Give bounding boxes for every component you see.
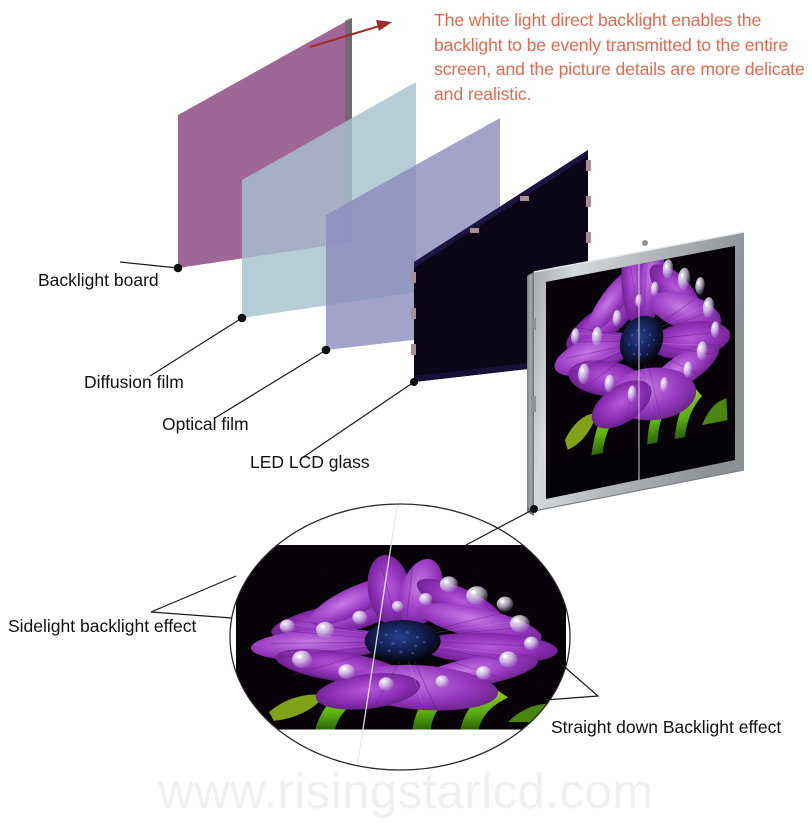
site-watermark: www.risingstarlcd.com	[0, 766, 812, 818]
label-led-lcd-glass: LED LCD glass	[250, 452, 370, 472]
figure-canvas: The white light direct backlight enables…	[0, 0, 812, 826]
leader-backlight-board	[120, 262, 178, 268]
leader-sidelight	[151, 576, 236, 618]
leader-led-lcd-glass	[302, 382, 414, 458]
label-sidelight-backlight-effect: Sidelight backlight effect	[8, 616, 196, 636]
label-diffusion-film: Diffusion film	[84, 372, 184, 392]
headline-caption: The white light direct backlight enables…	[434, 8, 806, 106]
label-backlight-board: Backlight board	[38, 270, 159, 290]
magnified-screen-detail[interactable]	[230, 500, 570, 775]
exploded-view-illustration	[0, 0, 812, 826]
leader-diffusion-film	[150, 318, 242, 376]
leader-optical-film	[215, 350, 326, 418]
label-straight-down-backlight-effect: Straight down Backlight effect	[551, 717, 781, 737]
label-optical-film: Optical film	[162, 414, 249, 434]
